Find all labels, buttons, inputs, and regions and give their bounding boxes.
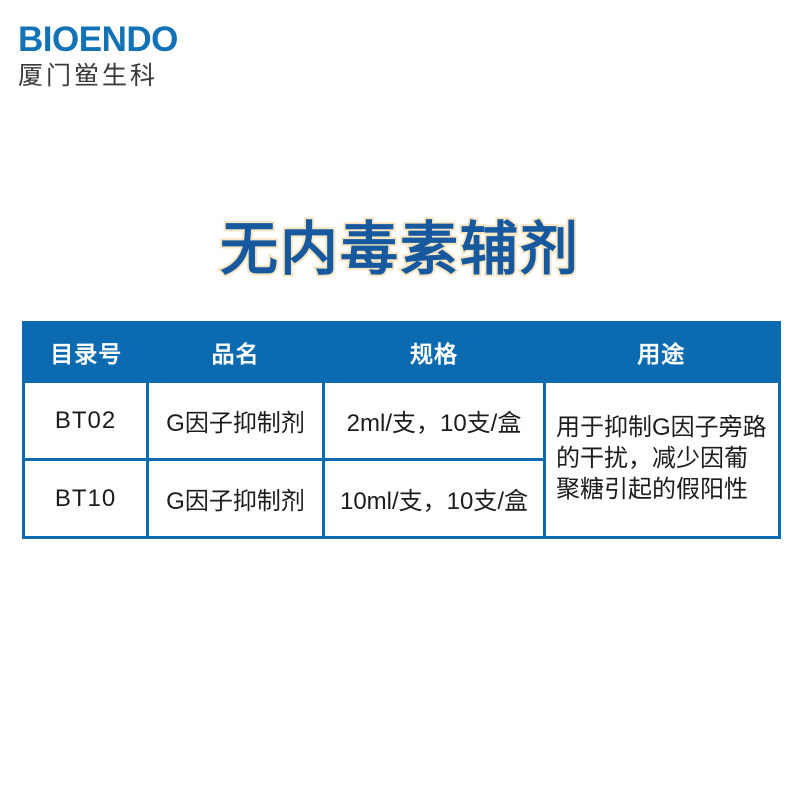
product-spec-table: 目录号 品名 规格 用途 BT02 G因子抑制剂 2ml/支，10支/盒 用于抑… <box>22 321 781 539</box>
cell-specification: 10ml/支，10支/盒 <box>324 460 545 538</box>
brand-logo: BIOENDO 厦门鲎生科 <box>18 22 318 89</box>
cell-product-name: G因子抑制剂 <box>148 382 324 460</box>
table-body: BT02 G因子抑制剂 2ml/支，10支/盒 用于抑制G因子旁路的干扰，减少因… <box>24 382 780 538</box>
table-header-row: 目录号 品名 规格 用途 <box>24 323 780 382</box>
brand-wordmark: BIOENDO <box>18 22 318 57</box>
table-header: 目录号 品名 规格 用途 <box>24 323 780 382</box>
cell-usage-merged: 用于抑制G因子旁路的干扰，减少因葡聚糖引起的假阳性 <box>545 382 780 538</box>
column-header-catalog-no: 目录号 <box>24 323 148 382</box>
table-row: BT02 G因子抑制剂 2ml/支，10支/盒 用于抑制G因子旁路的干扰，减少因… <box>24 382 780 460</box>
column-header-product-name: 品名 <box>148 323 324 382</box>
column-header-usage: 用途 <box>545 323 780 382</box>
page-title: 无内毒素辅剂 <box>220 218 580 282</box>
cell-product-name: G因子抑制剂 <box>148 460 324 538</box>
cell-catalog-no: BT02 <box>24 382 148 460</box>
column-header-specification: 规格 <box>324 323 545 382</box>
cell-specification: 2ml/支，10支/盒 <box>324 382 545 460</box>
cell-catalog-no: BT10 <box>24 460 148 538</box>
product-table-container: 目录号 品名 规格 用途 BT02 G因子抑制剂 2ml/支，10支/盒 用于抑… <box>22 321 778 539</box>
page-title-container: 无内毒素辅剂 <box>0 218 800 282</box>
brand-subtitle: 厦门鲎生科 <box>18 64 318 89</box>
